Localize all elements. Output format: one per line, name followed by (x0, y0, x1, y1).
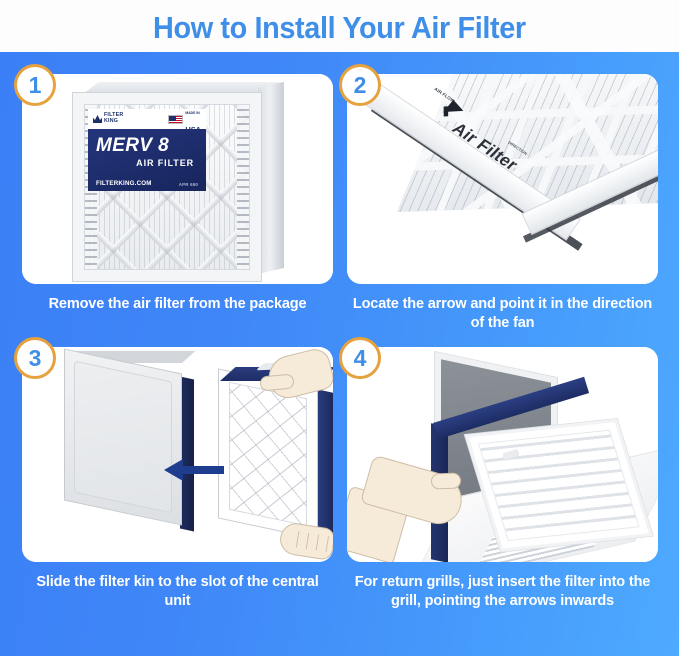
label-brand-row: FILTER KING MADE IN USA (88, 109, 206, 129)
instruction-board: FILTER KING MADE IN USA (0, 52, 679, 656)
step-number-badge-2: 2 (339, 64, 381, 106)
label-main-panel: MERV 8 AIR FILTER FILTERKING.COM APR 650 (88, 129, 206, 191)
step-card-3: 3 Slide the filter kin to the slot of th… (22, 347, 333, 611)
arrow-head (164, 459, 183, 481)
arrow-shaft (182, 466, 224, 474)
crown-icon (93, 115, 102, 123)
step-3-image-card (22, 347, 333, 562)
central-unit-slot (180, 377, 194, 532)
step-caption-1: Remove the air filter from the package (22, 295, 333, 314)
brand-website: FILTERKING.COM (96, 180, 152, 187)
made-in-label: MADE IN (185, 111, 199, 115)
page-title: How to Install Your Air Filter (153, 12, 526, 43)
filter-king-logo: FILTER KING (93, 113, 123, 125)
grill-louvers (478, 430, 640, 541)
filter-product-label: FILTER KING MADE IN USA (88, 109, 206, 191)
return-grill-illustration (347, 347, 658, 562)
step-number-badge-1: 1 (14, 64, 56, 106)
step-card-4: 4 For return grills, just insert the fil… (347, 347, 658, 611)
step-1-image-card: FILTER KING MADE IN USA (22, 74, 333, 284)
step-caption-2: Locate the arrow and point it in the dir… (347, 295, 658, 333)
air-filter-illustration: FILTER KING MADE IN USA (72, 82, 284, 282)
step-2-image-card: AIR FLOW Air Filter DIRECTION (347, 74, 658, 284)
central-unit-panel (74, 361, 172, 514)
step-caption-4: For return grills, just insert the filte… (347, 573, 658, 611)
step-card-2: AIR FLOW Air Filter DIRECTION 2 Locate t… (347, 74, 658, 333)
angled-air-filter: AIR FLOW Air Filter DIRECTION (360, 74, 658, 284)
apr-rating: APR 650 (179, 182, 198, 187)
central-unit-body (64, 348, 182, 525)
filter-front-face: FILTER KING MADE IN USA (72, 92, 262, 282)
step-number-badge-3: 3 (14, 337, 56, 379)
step-number-badge-4: 4 (339, 337, 381, 379)
step-caption-3: Slide the filter kin to the slot of the … (22, 573, 333, 611)
steps-grid: FILTER KING MADE IN USA (0, 52, 679, 656)
step-card-1: FILTER KING MADE IN USA (22, 74, 333, 314)
brand-line-2: KING (104, 118, 118, 124)
page-header: How to Install Your Air Filter (0, 0, 679, 52)
slide-direction-arrow-icon (164, 459, 224, 481)
air-filter-product-photo: FILTER KING MADE IN USA (22, 74, 333, 284)
thumb (431, 472, 462, 489)
label-footer-row: FILTERKING.COM APR 650 (96, 180, 198, 187)
usa-flag-icon (168, 115, 183, 124)
product-type: AIR FILTER (96, 158, 198, 168)
slide-filter-illustration (22, 347, 333, 562)
filter-corner-photo: AIR FLOW Air Filter DIRECTION (347, 74, 658, 284)
step-4-image-card (347, 347, 658, 562)
new-filter-mesh (229, 382, 307, 527)
brand-name: FILTER KING (104, 113, 123, 125)
new-filter-side-frame (317, 389, 333, 542)
merv-rating: MERV 8 (96, 136, 198, 155)
arrow-tail (444, 106, 449, 116)
